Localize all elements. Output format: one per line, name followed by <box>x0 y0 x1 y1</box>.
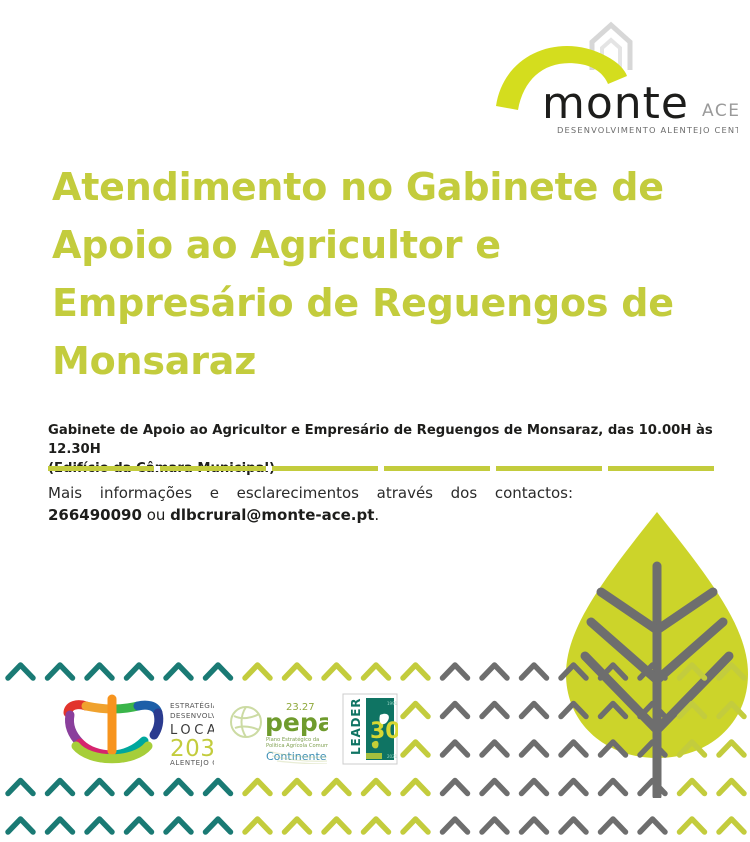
monte-ace-logo: monte ACE DESENVOLVIMENTO ALENTEJO CENTR… <box>480 14 738 134</box>
chevron-icon <box>285 819 310 832</box>
title-line-1: Atendimento no Gabinete de <box>52 158 692 216</box>
section-divider <box>48 466 720 471</box>
chevron-icon <box>403 665 428 678</box>
chevron-icon <box>561 704 586 717</box>
chevron-icon <box>719 665 744 678</box>
chevron-icon <box>601 781 626 794</box>
chevron-icon <box>640 781 665 794</box>
local2030-line-1: ESTRATÉGIA DE <box>170 701 214 710</box>
chevron-icon <box>48 665 73 678</box>
chevron-icon <box>522 742 547 755</box>
chevron-icon <box>719 704 744 717</box>
monte-wordmark: monte <box>542 78 689 129</box>
contact-conjunction: ou <box>142 506 170 524</box>
partner-logos: ESTRATÉGIA DE DESENVOLVIMENTO LOCAL 2030… <box>46 692 398 766</box>
contact-period: . <box>374 506 379 524</box>
chevron-icon <box>403 781 428 794</box>
chevron-icon <box>443 742 468 755</box>
chevron-icon <box>482 742 507 755</box>
chevron-icon <box>482 704 507 717</box>
chevron-icon <box>48 781 73 794</box>
chevron-icon <box>719 742 744 755</box>
page-title: Atendimento no Gabinete de Apoio ao Agri… <box>52 158 692 390</box>
pepac-wordmark: pepac <box>265 708 328 737</box>
contact-email[interactable]: dlbcrural@monte-ace.pt <box>170 506 374 524</box>
pepac-globe-icon <box>231 707 261 737</box>
chevron-icon <box>324 819 349 832</box>
chevron-icon <box>561 742 586 755</box>
contact-details: 266490090 ou dlbcrural@monte-ace.pt. <box>48 504 573 526</box>
chevron-icon <box>245 781 270 794</box>
brand-tagline: DESENVOLVIMENTO ALENTEJO CENTRAL <box>557 125 738 134</box>
pepac-sub-2: Política Agrícola Comum <box>266 742 328 749</box>
chevron-icon <box>8 781 33 794</box>
leader-year-end: 2021 <box>387 754 398 759</box>
partner-logo-local-2030: ESTRATÉGIA DE DESENVOLVIMENTO LOCAL 2030… <box>46 691 214 767</box>
chevron-icon <box>680 665 705 678</box>
contact-intro: Mais informações e esclarecimentos atrav… <box>48 483 573 504</box>
chevron-icon <box>206 781 231 794</box>
chevron-icon <box>443 704 468 717</box>
chevron-icon <box>127 781 152 794</box>
chevron-icon <box>166 819 191 832</box>
chevron-icon <box>364 781 389 794</box>
chevron-icon <box>364 665 389 678</box>
chevron-icon <box>680 742 705 755</box>
chevron-icon <box>680 704 705 717</box>
chevron-icon <box>601 665 626 678</box>
chevron-icon <box>48 819 73 832</box>
chevron-icon <box>522 704 547 717</box>
chevron-icon <box>245 665 270 678</box>
chevron-icon <box>8 819 33 832</box>
chevron-icon <box>640 704 665 717</box>
event-details-line-1: Gabinete de Apoio ao Agricultor e Empres… <box>48 421 720 459</box>
leader-accent-bar <box>366 753 382 759</box>
leader-wordmark: LEADER <box>349 698 363 755</box>
chevron-icon <box>482 665 507 678</box>
contact-phone[interactable]: 266490090 <box>48 506 142 524</box>
chevron-icon <box>680 781 705 794</box>
chevron-icon <box>285 665 310 678</box>
chevron-icon <box>443 665 468 678</box>
chevron-icon <box>403 742 428 755</box>
chevron-icon <box>87 665 112 678</box>
chevron-icon <box>206 665 231 678</box>
chevron-icon <box>87 819 112 832</box>
contact-info: Mais informações e esclarecimentos atrav… <box>48 483 573 526</box>
chevron-icon <box>601 704 626 717</box>
chevron-icon <box>719 781 744 794</box>
pepac-sub-1: Plano Estratégico da <box>266 736 319 743</box>
chevron-icon <box>364 819 389 832</box>
title-line-4: Monsaraz <box>52 332 692 390</box>
chevron-icon <box>522 665 547 678</box>
title-line-3: Empresário de Reguengos de <box>52 274 692 332</box>
chevron-icon <box>403 704 428 717</box>
chevron-icon <box>8 665 33 678</box>
chevron-icon <box>640 665 665 678</box>
chevron-icon <box>482 819 507 832</box>
chevron-icon <box>640 819 665 832</box>
chevron-icon <box>324 781 349 794</box>
chevron-icon <box>403 819 428 832</box>
chevron-icon <box>522 819 547 832</box>
partner-logo-leader: LEADER 30 1991 2021 <box>342 693 398 765</box>
chevron-icon <box>206 819 231 832</box>
chevron-icon <box>601 742 626 755</box>
local2030-line-5: ALENTEJO CENTRAL <box>170 759 214 767</box>
chevron-icon <box>285 781 310 794</box>
partner-logo-pepac: 23.27 pepac Plano Estratégico da Polític… <box>228 694 328 764</box>
title-line-2: Apoio ao Agricultor e <box>52 216 692 274</box>
chevron-icon <box>245 819 270 832</box>
dlbc-ribbon-icon <box>68 699 159 759</box>
leader-year-start: 1991 <box>387 701 398 706</box>
chevron-icon <box>561 819 586 832</box>
chevron-icon <box>601 819 626 832</box>
chevron-icon <box>443 819 468 832</box>
chevron-icon <box>127 665 152 678</box>
chevron-icon <box>640 742 665 755</box>
chevron-icon <box>482 781 507 794</box>
chevron-icon <box>87 781 112 794</box>
local2030-line-2: DESENVOLVIMENTO <box>170 711 214 720</box>
chevron-icon <box>166 781 191 794</box>
chevron-icon <box>443 781 468 794</box>
ace-wordmark: ACE <box>702 101 738 121</box>
chevron-icon <box>324 665 349 678</box>
chevron-icon <box>166 665 191 678</box>
chevron-icon <box>127 819 152 832</box>
chevron-icon <box>719 819 744 832</box>
chevron-icon <box>561 781 586 794</box>
poster-canvas: monte ACE DESENVOLVIMENTO ALENTEJO CENTR… <box>0 0 750 842</box>
chevron-icon <box>561 665 586 678</box>
chevron-icon <box>522 781 547 794</box>
chevron-icon <box>680 819 705 832</box>
